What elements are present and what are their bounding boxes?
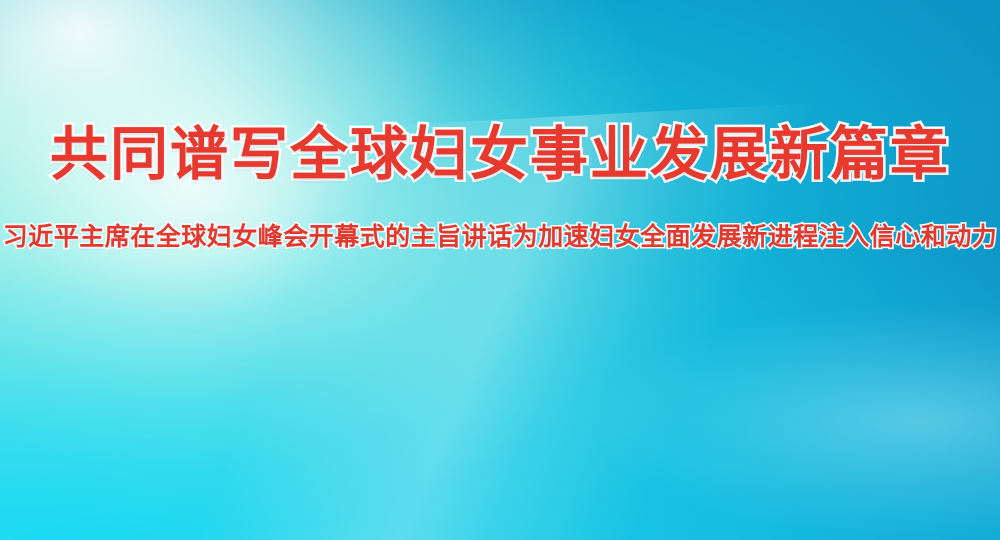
banner-subheadline: 习近平主席在全球妇女峰会开幕式的主旨讲话为加速妇女全面发展新进程注入信心和动力 <box>0 224 1000 253</box>
banner-headline: 共同谱写全球妇女事业发展新篇章 <box>0 126 1000 184</box>
banner-text-group: 共同谱写全球妇女事业发展新篇章 习近平主席在全球妇女峰会开幕式的主旨讲话为加速妇… <box>0 0 1000 540</box>
banner-graphic: 共同谱写全球妇女事业发展新篇章 习近平主席在全球妇女峰会开幕式的主旨讲话为加速妇… <box>0 0 1000 540</box>
